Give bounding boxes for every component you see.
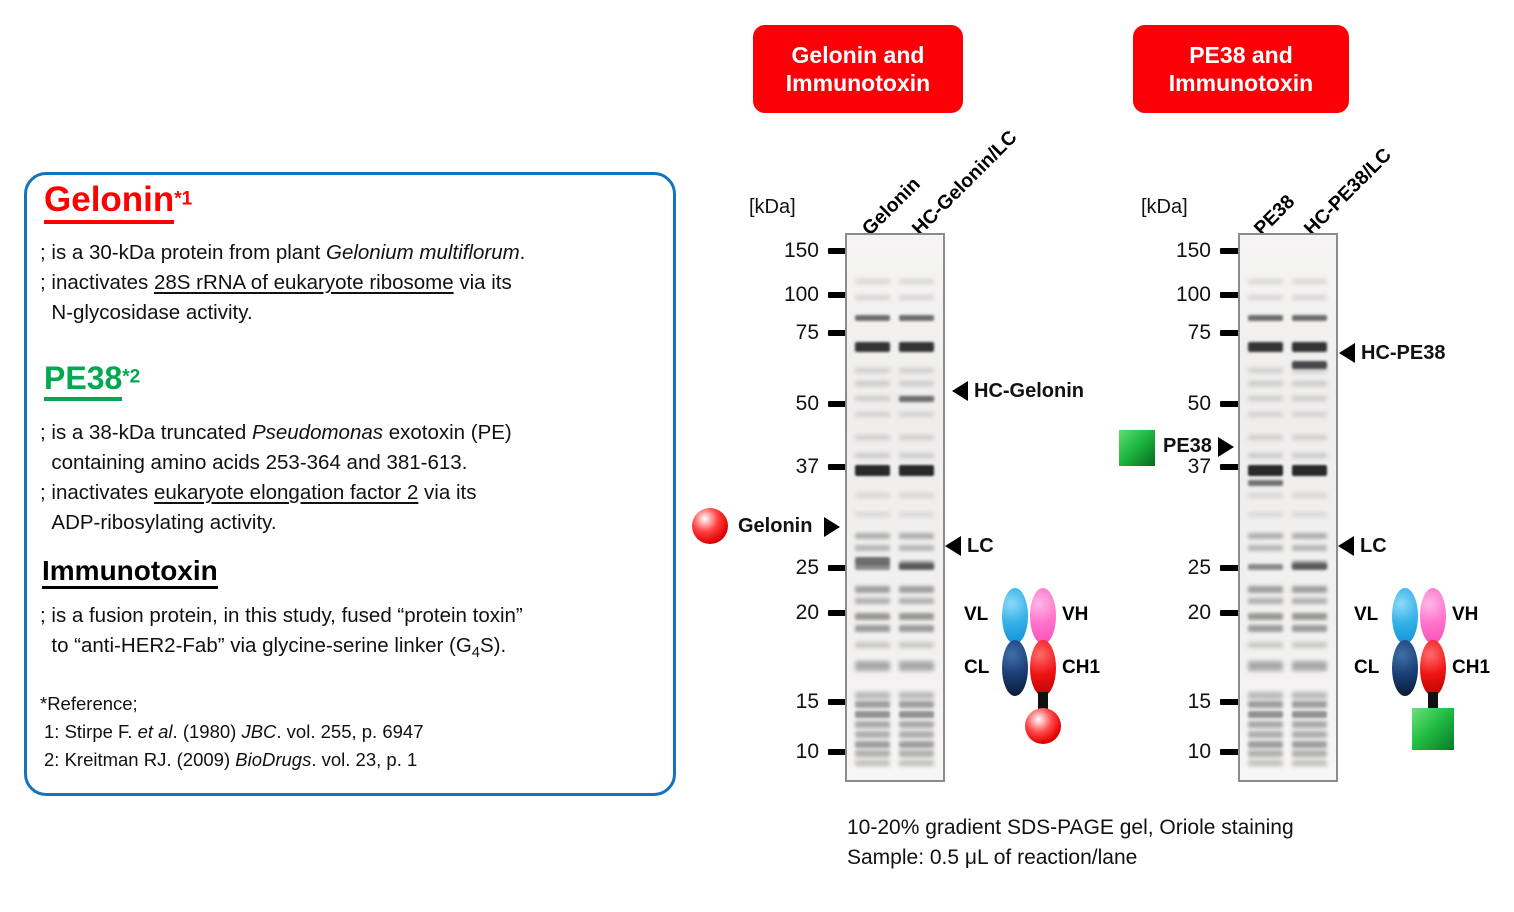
panel-title-pe38-line2: Immunotoxin	[1169, 69, 1313, 97]
mw-marker-left-10-value: 10	[773, 740, 819, 764]
mw-marker-right-100-value: 100	[1165, 283, 1211, 307]
pe38-line-3: ; inactivates eukaryote elongation facto…	[40, 478, 476, 508]
mw-marker-left-37-value: 37	[773, 455, 819, 479]
panel-title-gelonin-line1: Gelonin and	[786, 41, 930, 69]
panel-title-gelonin: Gelonin and Immunotoxin	[753, 25, 963, 113]
mw-marker-right-100: 100	[1165, 283, 1246, 307]
domain-ch1-shape	[1030, 640, 1056, 696]
red-sphere-icon-toxin	[1025, 708, 1061, 744]
pe38-heading-text: PE38	[44, 362, 122, 401]
immunotoxin-heading-text: Immunotoxin	[42, 556, 218, 589]
immunotoxin-line-1: ; is a fusion protein, in this study, fu…	[40, 601, 523, 631]
gel-image-gelonin	[845, 233, 945, 782]
mw-marker-left-20: 20	[773, 601, 854, 625]
mw-marker-right-150-value: 150	[1165, 239, 1211, 263]
gelonin-line-3: N-glycosidase activity.	[40, 298, 253, 328]
band-annotation-hc-gelonin-label: HC-Gelonin	[974, 380, 1084, 403]
gel-lane	[855, 235, 890, 780]
domain-vl-shape	[1392, 588, 1418, 644]
panel-title-pe38: PE38 and Immunotoxin	[1133, 25, 1349, 113]
mw-marker-left-20-value: 20	[773, 601, 819, 625]
reference-title: *Reference;	[40, 690, 138, 718]
mw-marker-left-50: 50	[773, 392, 854, 416]
kda-label-left: [kDa]	[749, 196, 796, 219]
mw-marker-left-75: 75	[773, 321, 854, 345]
domain-vh-shape	[1030, 588, 1056, 644]
arrow-left-icon-lc-right	[1338, 536, 1354, 556]
gel-lane	[1292, 235, 1327, 780]
fab-diagram-gelonin: VL VH CL CH1	[960, 588, 1100, 768]
band-annotation-hc-pe38-label: HC-PE38	[1361, 342, 1445, 365]
arrow-right-icon-pe38	[1218, 437, 1234, 457]
band-annotation-lc-left-label: LC	[967, 535, 994, 558]
pe38-line-4: ADP-ribosylating activity.	[40, 508, 277, 538]
gelonin-heading-superscript: *1	[174, 189, 192, 210]
pe38-line-1: ; is a 38-kDa truncated Pseudomonas exot…	[40, 418, 512, 448]
domain-cl-label: CL	[1354, 657, 1379, 679]
panel-title-gelonin-line2: Immunotoxin	[786, 69, 930, 97]
domain-cl-shape	[1002, 640, 1028, 696]
lane-label-left-2-text: HC-Gelonin/LC	[908, 126, 1022, 240]
reference-item-1: 1: Stirpe F. et al. (1980) JBC. vol. 255…	[44, 718, 424, 746]
mw-marker-left-25: 25	[773, 556, 854, 580]
domain-vh-label: VH	[1062, 604, 1088, 626]
section-immunotoxin-heading: Immunotoxin	[42, 556, 218, 589]
mw-marker-right-20: 20	[1165, 601, 1246, 625]
mw-marker-right-37-value: 37	[1165, 455, 1211, 479]
mw-marker-right-25-value: 25	[1165, 556, 1211, 580]
mw-marker-left-150-value: 150	[773, 239, 819, 263]
caption-line-2: Sample: 0.5 μL of reaction/lane	[847, 842, 1137, 874]
mw-marker-left-15-value: 15	[773, 690, 819, 714]
band-annotation-pe38-label: PE38	[1163, 435, 1212, 458]
band-annotation-lc-right-label: LC	[1360, 535, 1387, 558]
mw-marker-right-75: 75	[1165, 321, 1246, 345]
mw-marker-right-75-value: 75	[1165, 321, 1211, 345]
pe38-heading-superscript: *2	[122, 367, 140, 388]
red-sphere-icon-gelonin-marker	[692, 508, 728, 544]
domain-ch1-label: CH1	[1452, 657, 1490, 679]
mw-marker-right-20-value: 20	[1165, 601, 1211, 625]
domain-vh-label: VH	[1452, 604, 1478, 626]
mw-marker-right-50-value: 50	[1165, 392, 1211, 416]
caption-line-1: 10-20% gradient SDS-PAGE gel, Oriole sta…	[847, 812, 1294, 844]
arrow-right-icon-gelonin	[824, 517, 840, 537]
section-gelonin-heading: Gelonin*1	[44, 182, 192, 224]
domain-ch1-shape	[1420, 640, 1446, 696]
domain-vl-label: VL	[964, 604, 988, 626]
immunotoxin-line-2: to “anti-HER2-Fab” via glycine-serine li…	[40, 631, 506, 665]
panel-title-pe38-line1: PE38 and	[1169, 41, 1313, 69]
gel-image-pe38	[1238, 233, 1338, 782]
mw-marker-right-10: 10	[1165, 740, 1246, 764]
mw-marker-left-50-value: 50	[773, 392, 819, 416]
mw-marker-left-100: 100	[773, 283, 854, 307]
mw-marker-left-100-value: 100	[773, 283, 819, 307]
reference-item-2: 2: Kreitman RJ. (2009) BioDrugs. vol. 23…	[44, 746, 417, 774]
arrow-left-icon-lc-left	[945, 536, 961, 556]
domain-vl-shape	[1002, 588, 1028, 644]
gel-lane	[1248, 235, 1283, 780]
section-pe38-heading: PE38*2	[44, 362, 140, 401]
green-square-icon-pe38-marker	[1119, 430, 1155, 466]
arrow-left-icon-hc-pe38	[1339, 343, 1355, 363]
gelonin-line-1: ; is a 30-kDa protein from plant Geloniu…	[40, 238, 525, 268]
mw-marker-left-10: 10	[773, 740, 854, 764]
domain-ch1-label: CH1	[1062, 657, 1100, 679]
lane-label-right-2-text: HC-PE38/LC	[1300, 144, 1397, 241]
mw-marker-right-37: 37	[1165, 455, 1246, 479]
mw-marker-left-15: 15	[773, 690, 854, 714]
mw-marker-left-150: 150	[773, 239, 854, 263]
gelonin-line-2: ; inactivates 28S rRNA of eukaryote ribo…	[40, 268, 512, 298]
arrow-left-icon-hc-gelonin	[952, 381, 968, 401]
green-square-icon-toxin	[1412, 708, 1454, 750]
mw-marker-right-50: 50	[1165, 392, 1246, 416]
mw-marker-left-37: 37	[773, 455, 854, 479]
fab-diagram-pe38: VL VH CL CH1	[1350, 588, 1490, 768]
domain-cl-label: CL	[964, 657, 989, 679]
domain-vl-label: VL	[1354, 604, 1378, 626]
domain-vh-shape	[1420, 588, 1446, 644]
gel-lane	[899, 235, 934, 780]
pe38-line-2: containing amino acids 253-364 and 381-6…	[40, 448, 467, 478]
mw-marker-right-25: 25	[1165, 556, 1246, 580]
gelonin-heading-text: Gelonin	[44, 182, 174, 224]
band-annotation-gelonin-label: Gelonin	[738, 515, 812, 538]
kda-label-right: [kDa]	[1141, 196, 1188, 219]
mw-marker-right-150: 150	[1165, 239, 1246, 263]
mw-marker-right-15: 15	[1165, 690, 1246, 714]
mw-marker-left-75-value: 75	[773, 321, 819, 345]
mw-marker-right-10-value: 10	[1165, 740, 1211, 764]
domain-cl-shape	[1392, 640, 1418, 696]
mw-marker-left-25-value: 25	[773, 556, 819, 580]
mw-marker-right-15-value: 15	[1165, 690, 1211, 714]
